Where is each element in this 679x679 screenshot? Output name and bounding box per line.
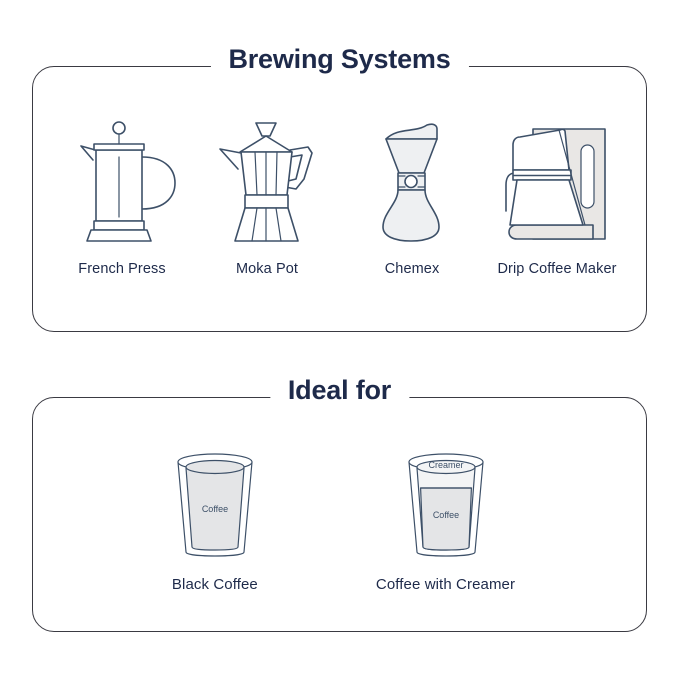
drip-coffee-maker-icon [493,117,621,247]
chemex-icon [353,117,471,247]
item-label-chemex: Chemex [385,261,440,277]
panel-brewing-systems: Brewing Systems [32,66,647,332]
cup-layer-label-coffee: Coffee [432,510,458,520]
panel-title-ideal-for: Ideal for [270,377,409,404]
item-label-french-press: French Press [78,261,165,277]
item-label-moka-pot: Moka Pot [236,261,298,277]
item-label-coffee-with-creamer: Coffee with Creamer [376,576,515,593]
item-label-drip-coffee-maker: Drip Coffee Maker [497,261,616,277]
item-french-press: French Press [50,117,195,277]
cup-layer-label-creamer: Creamer [428,460,463,470]
item-black-coffee: Coffee Black Coffee [164,440,266,593]
cup-layer-label-coffee: Coffee [202,504,228,514]
infographic-page: Brewing Systems [0,0,679,679]
ideal-for-item-row: Coffee Black Coffee [33,440,646,593]
item-label-black-coffee: Black Coffee [172,576,258,593]
item-moka-pot: Moka Pot [195,117,340,277]
panel-title-brewing-systems: Brewing Systems [210,46,468,73]
panel-ideal-for: Ideal for Coffee [32,397,647,632]
french-press-icon [63,117,181,247]
coffee-cup-icon: Coffee [164,440,266,558]
coffee-cup-creamer-icon: Creamer Coffee [395,440,497,558]
item-chemex: Chemex [340,117,485,277]
item-coffee-with-creamer: Creamer Coffee Coffee with Creamer [376,440,515,593]
brewing-systems-item-row: French Press [33,117,646,277]
moka-pot-icon [208,117,326,247]
item-drip-coffee-maker: Drip Coffee Maker [485,117,630,277]
